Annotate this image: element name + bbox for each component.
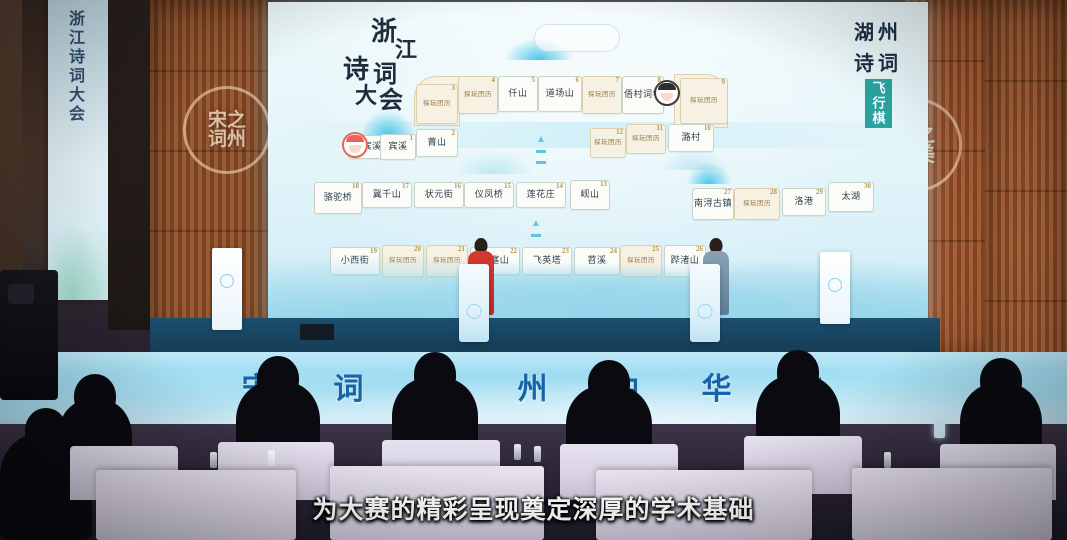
- emblem-left-char-1: 宋: [208, 111, 227, 130]
- water-glass: [884, 452, 891, 468]
- board-tile-label: 仟山: [508, 89, 527, 98]
- board-tile[interactable]: 11探玩团历: [626, 124, 666, 154]
- subtitle-caption: 为大赛的精彩呈现奠定深厚的学术基础: [0, 490, 1067, 526]
- banner-shadow-column: [108, 0, 152, 330]
- water-glass: [534, 446, 541, 462]
- board-hill-art-3: [454, 150, 534, 174]
- stage-char-4: 州: [518, 364, 550, 408]
- title-char-1: 浙: [371, 20, 397, 45]
- board-tile-label: 探玩团历: [423, 100, 451, 107]
- board-tile-number: 16: [454, 182, 461, 190]
- board-tile[interactable]: 14莲花庄: [516, 182, 566, 208]
- board-cartouche: [534, 24, 620, 52]
- stage-front-characters: 宋 词 之 州 中 华 美: [0, 364, 1067, 408]
- conference-stage-photo: 浙江诗词大会 宋 之 词 州 中 之 华 美: [0, 0, 1067, 540]
- rollup-banner-right: [820, 252, 850, 324]
- board-tile-number: 4: [492, 76, 496, 84]
- board-tile-number: 17: [402, 182, 409, 190]
- emblem-left-char-3: 词: [208, 130, 227, 149]
- board-tile-number: 30: [864, 182, 871, 190]
- board-tile[interactable]: 17冀千山: [362, 182, 412, 208]
- board-tile[interactable]: 29洛港: [782, 188, 826, 216]
- board-tile[interactable]: 30太湖: [828, 182, 874, 212]
- board-tile-label: 探玩团历: [464, 91, 492, 98]
- board-tile-label: 洛港: [794, 197, 813, 206]
- board-tile[interactable]: 16状元街: [414, 182, 464, 208]
- board-tile-number: 10: [704, 124, 711, 132]
- rollup-banner-left: [212, 248, 242, 330]
- stage-monitor-box: [300, 324, 334, 340]
- board-tile-label: 南浔古镇: [694, 199, 732, 208]
- board-tile-label: 仪凤桥: [475, 190, 504, 199]
- title-char-3: 诗: [343, 58, 369, 83]
- smartphone-screen: [934, 422, 945, 438]
- board-tile-number: 15: [504, 182, 511, 190]
- board-tile[interactable]: 3探玩团历: [416, 84, 458, 124]
- board-tile[interactable]: 12探玩团历: [590, 128, 626, 158]
- board-tile-label: 道场山: [546, 89, 575, 98]
- board-tile-label: 探玩团历: [690, 97, 718, 104]
- title-char-2: 江: [395, 40, 417, 61]
- screen-title-right-line2: 诗词: [854, 47, 902, 76]
- board-tile-number: 18: [352, 182, 359, 190]
- board-tile-number: 14: [556, 182, 563, 190]
- camera-rig: [0, 270, 58, 400]
- emblem-left-char-2: 之: [227, 111, 246, 130]
- water-glass: [514, 444, 521, 460]
- board-tile[interactable]: 4探玩团历: [458, 76, 498, 114]
- board-tile-label: 冀千山: [373, 190, 402, 199]
- board-tile[interactable]: 7探玩团历: [582, 76, 622, 114]
- board-tile-number: 6: [576, 76, 580, 84]
- board-tile[interactable]: 2菁山: [416, 129, 458, 157]
- board-tile-number: 28: [770, 188, 777, 196]
- player-token-red[interactable]: [342, 132, 368, 158]
- board-tile[interactable]: 13岘山: [570, 180, 610, 210]
- board-tile-label: 潞村: [681, 133, 700, 142]
- emblem-left-char-4: 州: [227, 130, 246, 149]
- board-tile-number: 9: [722, 78, 726, 86]
- title-char-5: 大: [355, 86, 377, 107]
- board-tile-label: 太湖: [841, 192, 860, 201]
- board-tile-number: 7: [616, 76, 620, 84]
- board-tile-label: 宾溪: [388, 142, 407, 151]
- screen-title-left: 浙 江 诗 词 大 会: [325, 20, 411, 112]
- board-tile-number: 3: [452, 84, 456, 92]
- board-tile[interactable]: 9探玩团历: [680, 78, 728, 124]
- stage-char-6: 华: [702, 364, 734, 408]
- board-tile[interactable]: 28探玩团历: [734, 188, 780, 220]
- camera-lens-icon: [8, 284, 34, 304]
- stage-char-2: 词: [334, 364, 366, 408]
- board-tile[interactable]: 15仪凤桥: [464, 182, 514, 208]
- board-tile-label: 探玩团历: [743, 200, 771, 207]
- board-tile[interactable]: 27南浔古镇: [692, 188, 734, 220]
- board-tile-label: 探玩团历: [588, 91, 616, 98]
- board-tile-number: 1: [410, 134, 414, 142]
- podium-left: [459, 264, 489, 342]
- side-banner: 浙江诗词大会: [48, 0, 108, 300]
- screen-title-right-chip: 飞行棋: [865, 79, 892, 128]
- board-tile-number: 5: [532, 76, 536, 84]
- podium-right: [690, 264, 720, 342]
- board-tile[interactable]: 1宾溪: [380, 134, 416, 160]
- water-glass: [268, 450, 275, 466]
- wall-emblem-left: 宋 之 词 州: [183, 86, 271, 174]
- board-tile-label: 探玩团历: [594, 139, 622, 146]
- board-tile-number: 13: [600, 180, 607, 188]
- board-tile-label: 岘山: [580, 190, 599, 199]
- side-banner-text: 浙江诗词大会: [62, 10, 86, 124]
- board-tile-label: 探玩团历: [632, 135, 660, 142]
- board-hill-art-1: [360, 110, 416, 136]
- pagoda-icon-1: ▲▬▬: [524, 134, 558, 167]
- board-tile-number: 12: [616, 128, 623, 136]
- board-tile[interactable]: 6道场山: [538, 76, 582, 112]
- board-tile-number: 29: [816, 188, 823, 196]
- board-tile[interactable]: 18骆驼桥: [314, 182, 362, 214]
- player-token-dark[interactable]: [654, 80, 680, 106]
- board-tile-label: 菁山: [427, 138, 446, 147]
- board-tile-label: 状元街: [425, 190, 454, 199]
- board-hill-art-5: [686, 162, 732, 184]
- screen-title-right-line1: 湖州: [854, 16, 902, 45]
- board-tile[interactable]: 10潞村: [668, 124, 714, 152]
- water-glass: [210, 452, 217, 468]
- board-tile-number: 27: [724, 188, 731, 196]
- stage-apron: 宋 词 之 州 中 华 美: [0, 352, 1067, 430]
- board-tile-label: 莲花庄: [527, 190, 556, 199]
- board-tile[interactable]: 5仟山: [498, 76, 538, 112]
- board-tile-number: 2: [452, 129, 456, 137]
- board-tile-label: 骆驼桥: [324, 193, 353, 202]
- screen-title-right: 湖州 诗词 飞行棋: [854, 16, 902, 133]
- board-tile-number: 11: [656, 124, 663, 132]
